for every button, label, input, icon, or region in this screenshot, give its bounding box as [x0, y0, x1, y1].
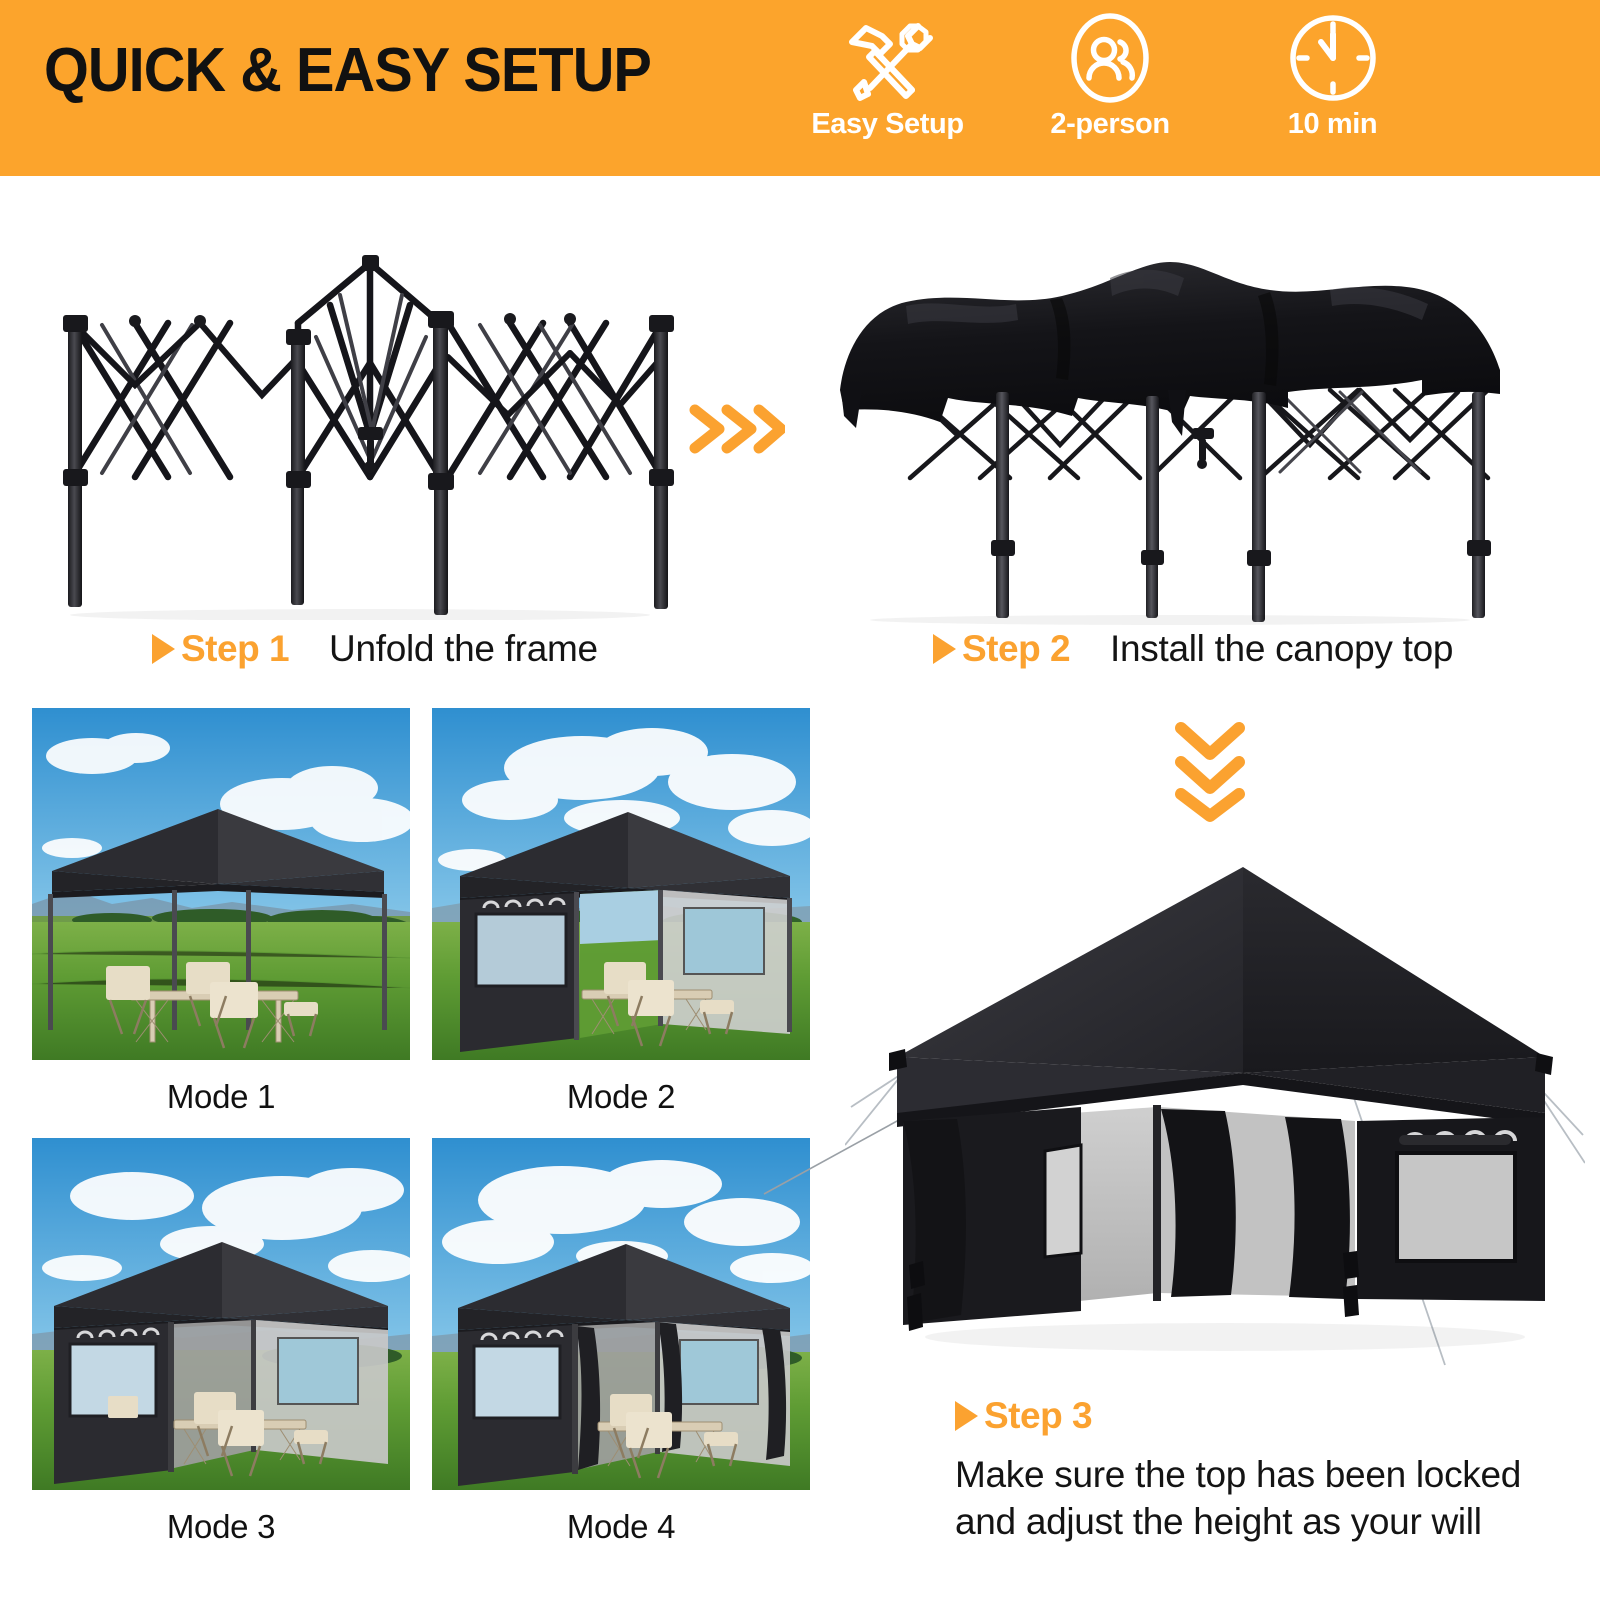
feature-label: 10 min [1288, 108, 1377, 141]
mode-2-photo [432, 708, 810, 1060]
step3-number: Step 3 [984, 1395, 1092, 1437]
step3-hero-image [845, 845, 1585, 1375]
step2-caption: Step 2 Install the canopy top [933, 628, 1453, 670]
feature-ten-min: 10 min [1235, 12, 1430, 141]
page-title: QUICK & EASY SETUP [44, 40, 651, 102]
infographic-page: QUICK & EASY SETUP [0, 0, 1600, 1600]
hammer-wrench-icon [842, 12, 934, 104]
step2-text: Install the canopy top [1110, 628, 1453, 670]
step3-heading: Step 3 [955, 1395, 1575, 1437]
feature-easy-setup: Easy Setup [790, 12, 985, 141]
step2-number: Step 2 [962, 628, 1070, 670]
step3-text-line2: and adjust the height as your will [955, 1498, 1575, 1545]
step1-number: Step 1 [181, 628, 289, 670]
mode-3-label: Mode 3 [32, 1508, 410, 1546]
step3-text-line1: Make sure the top has been locked [955, 1451, 1575, 1498]
clock-icon [1287, 12, 1379, 104]
two-person-icon [1067, 12, 1153, 104]
step2-canopy-illustration [810, 240, 1520, 625]
feature-badges: Easy Setup 2-person [790, 12, 1430, 164]
step1-caption: Step 1 Unfold the frame [152, 628, 598, 670]
mode-4-image [432, 1138, 810, 1490]
mode-1-image [32, 708, 410, 1060]
triple-chevron-right-icon [685, 398, 785, 460]
feature-label: Easy Setup [811, 108, 963, 141]
triple-chevron-down-icon [1155, 712, 1265, 822]
triangle-bullet-icon [152, 634, 175, 664]
feature-label: 2-person [1050, 108, 1169, 141]
mode-4-label: Mode 4 [432, 1508, 810, 1546]
mode-2-label: Mode 2 [432, 1078, 810, 1116]
mode-1-photo [32, 708, 410, 1060]
mode-3-image [32, 1138, 410, 1490]
mode-3-photo [32, 1138, 410, 1490]
triangle-bullet-icon [933, 634, 956, 664]
triangle-bullet-icon [955, 1401, 978, 1431]
mode-2-image [432, 708, 810, 1060]
mode-1-label: Mode 1 [32, 1078, 410, 1116]
step1-text: Unfold the frame [329, 628, 598, 670]
step3-caption-block: Step 3 Make sure the top has been locked… [955, 1395, 1575, 1546]
feature-two-person: 2-person [1013, 12, 1208, 141]
step1-frame-illustration [40, 245, 680, 620]
mode-4-photo [432, 1138, 810, 1490]
header-banner: QUICK & EASY SETUP [0, 0, 1600, 176]
